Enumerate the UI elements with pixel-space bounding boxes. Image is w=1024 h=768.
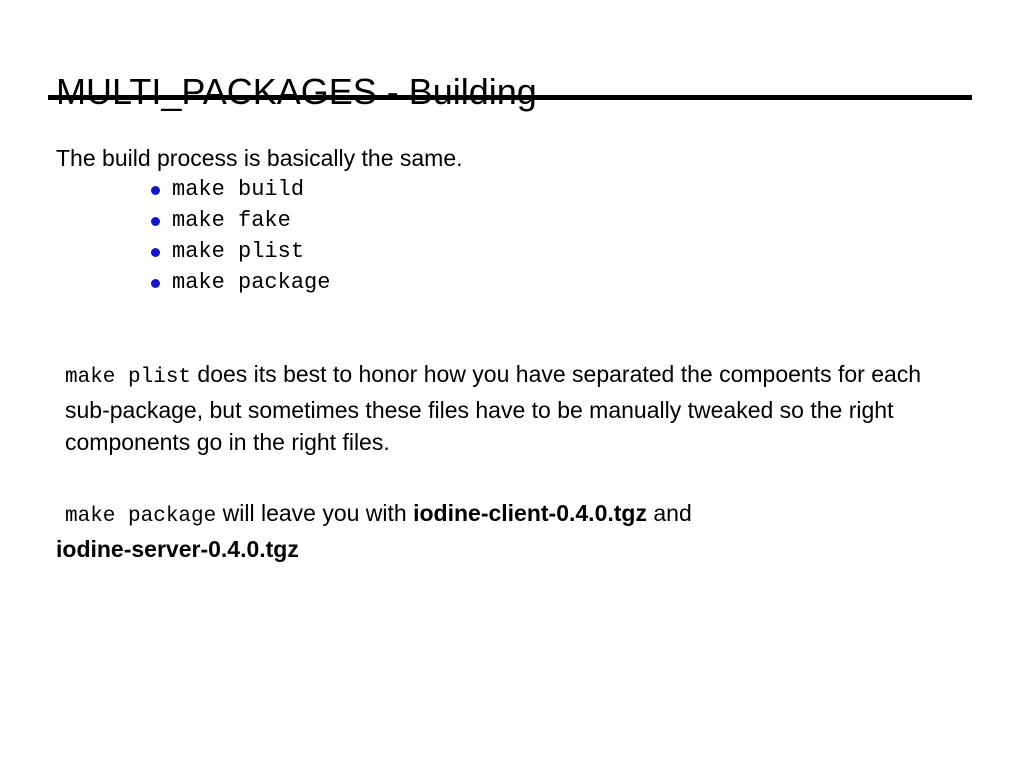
- list-item: make package: [148, 267, 330, 298]
- bullet-dot-icon: [151, 248, 160, 257]
- list-item-label: make package: [172, 270, 330, 296]
- bullet-dot-icon: [151, 217, 160, 226]
- lead-paragraph: The build process is basically the same.: [56, 144, 463, 172]
- list-item-label: make build: [172, 177, 304, 203]
- package-paragraph-text-before: will leave you with: [216, 500, 413, 526]
- plist-command-code: make plist: [65, 366, 191, 389]
- plist-paragraph-text: does its best to honor how you have sepa…: [65, 361, 921, 455]
- slide-body: The build process is basically the same.…: [0, 0, 1024, 768]
- package-paragraph-text-between: and: [647, 500, 692, 526]
- list-item-label: make fake: [172, 208, 291, 234]
- artifact-client-name: iodine-client-0.4.0.tgz: [413, 500, 647, 526]
- package-paragraph: make package will leave you with iodine-…: [65, 497, 945, 565]
- list-item: make fake: [148, 205, 330, 236]
- slide: MULTI_PACKAGES - Building The build proc…: [0, 0, 1024, 768]
- list-item-label: make plist: [172, 239, 304, 265]
- plist-paragraph: make plist does its best to honor how yo…: [65, 358, 925, 458]
- list-item: make plist: [148, 236, 330, 267]
- bullet-dot-icon: [151, 186, 160, 195]
- bullet-dot-icon: [151, 279, 160, 288]
- package-command-code: make package: [65, 505, 216, 528]
- artifact-server-name: iodine-server-0.4.0.tgz: [56, 533, 945, 565]
- command-bullet-list: make build make fake make plist make pac…: [148, 174, 330, 298]
- list-item: make build: [148, 174, 330, 205]
